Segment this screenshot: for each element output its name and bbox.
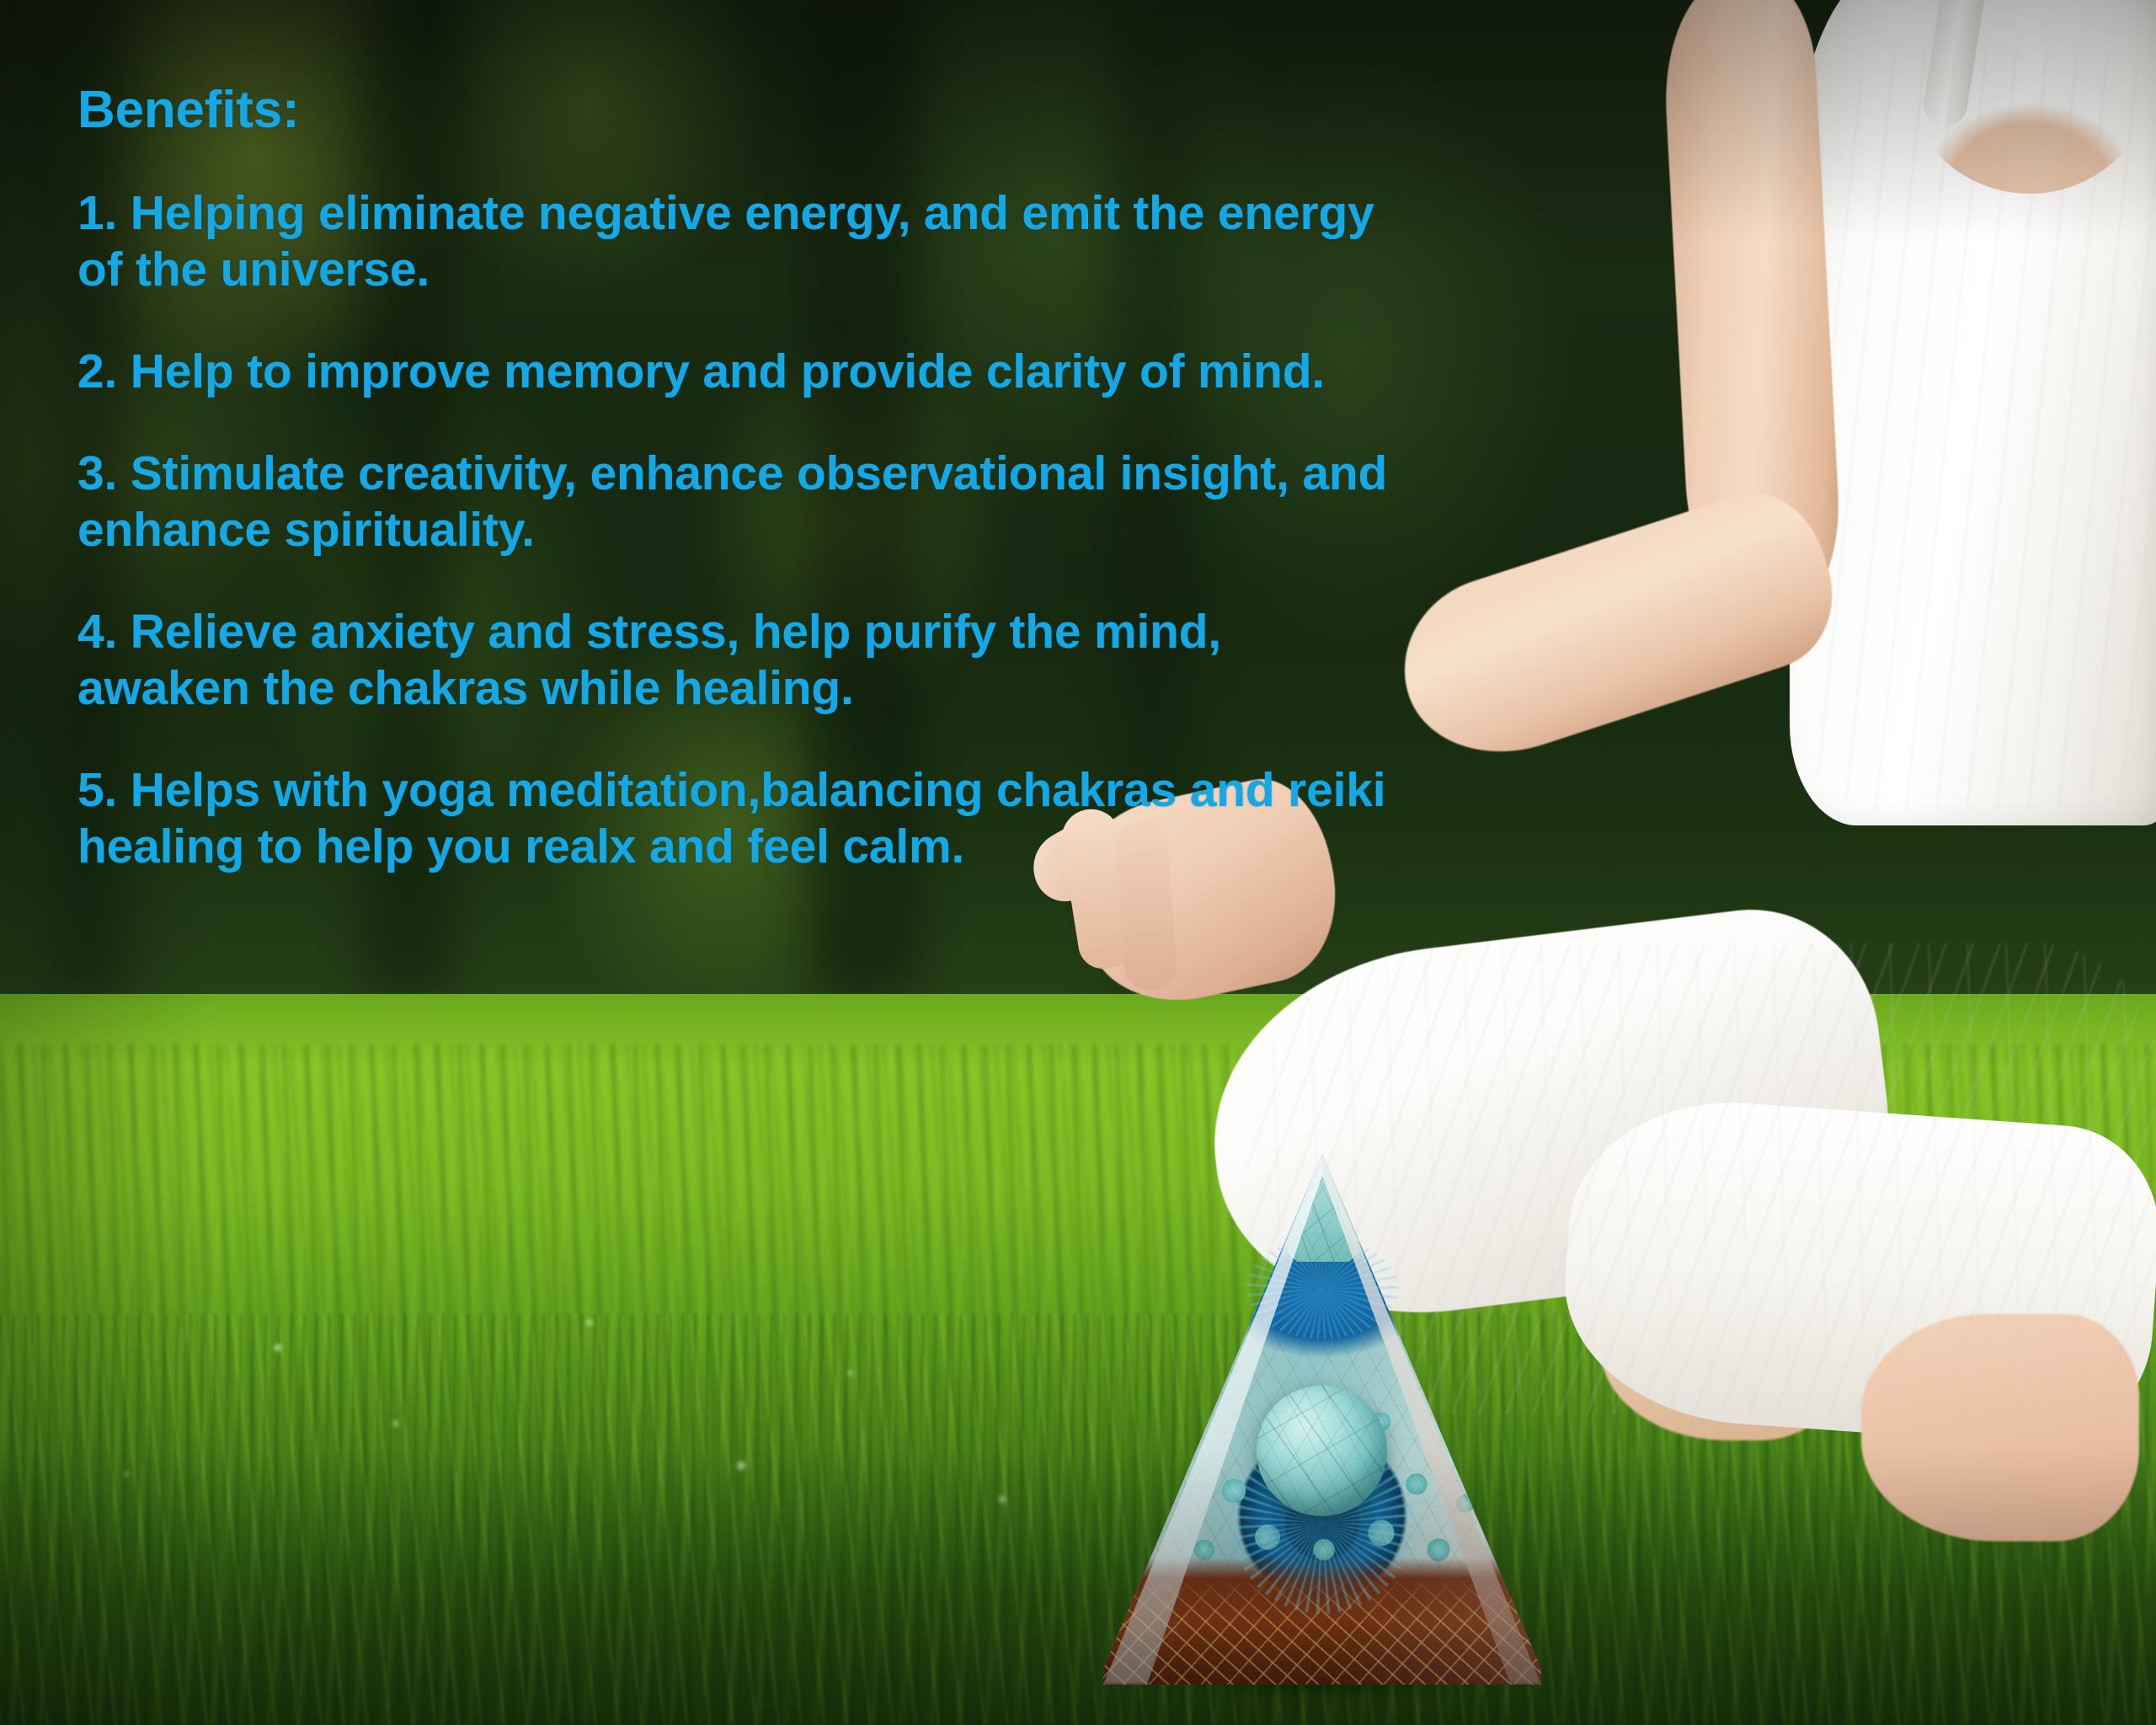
benefit-item-3: 3. Stimulate creativity, enhance observa… xyxy=(77,446,1829,558)
benefits-text-block: Benefits: 1. Helping eliminate negative … xyxy=(77,81,1829,875)
benefit-item-2: 2. Help to improve memory and provide cl… xyxy=(77,344,1829,400)
benefit-item-5: 5. Helps with yoga meditation,balancing … xyxy=(77,762,1829,875)
benefit-item-4: 4. Relieve anxiety and stress, help puri… xyxy=(77,604,1829,717)
benefit-item-1: 1. Helping eliminate negative energy, an… xyxy=(77,185,1829,298)
benefits-heading: Benefits: xyxy=(77,81,1829,140)
product-benefits-image: Benefits: 1. Helping eliminate negative … xyxy=(0,0,2156,1725)
